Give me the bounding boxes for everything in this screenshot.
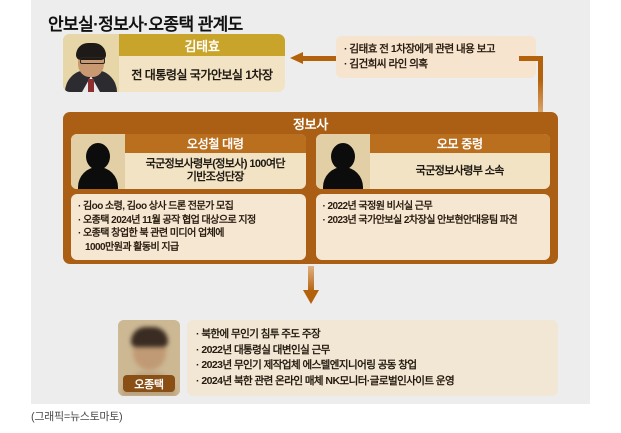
note-bullet: · 오종택 2024년 11월 공작 협업 대상으로 지정 — [78, 214, 299, 228]
oh-seongchul-silhouette-photo — [71, 134, 125, 189]
page-title: 안보실·정보사·오종택 관계도 — [48, 10, 243, 35]
note-bullet-continuation: 1000만원과 활동비 지급 — [78, 241, 299, 255]
callout-bullet: · 김태효 전 1차장에게 관련 내용 보고 — [344, 42, 528, 57]
person-card-oh-mo: 오모 중령 국군정보사령부 소속 — [316, 134, 551, 189]
note-bullet: · 김oo 소령, 김oo 상사 드론 전문가 모집 — [78, 200, 299, 214]
note-bullet: · 오종택 창업한 북 관련 미디어 업체에 — [78, 227, 299, 241]
arrow-left-icon — [290, 52, 336, 64]
infosa-column-right: 오모 중령 국군정보사령부 소속 · 2022년 국정원 비서실 근무 · 20… — [316, 134, 551, 260]
oh-mo-role: 국군정보사령부 소속 — [370, 153, 551, 189]
infosa-group-box: 정보사 오성철 대령 국군정보사령부(정보사) 100여단 기반조성단장 — [63, 112, 558, 264]
infosa-title: 정보사 — [71, 112, 550, 134]
note-bullet: · 2022년 대통령실 대변인실 근무 — [196, 343, 549, 359]
oh-seongchul-notes: · 김oo 소령, 김oo 상사 드론 전문가 모집 · 오종택 2024년 1… — [71, 194, 306, 260]
infographic-canvas: 안보실·정보사·오종택 관계도 김태효 전 대통령실 국가안보실 1차장 · 김… — [0, 0, 621, 433]
elbow-connector — [519, 56, 559, 118]
kim-taehyo-name: 김태효 — [119, 34, 285, 56]
oh-seongchul-role-line1: 국군정보사령부(정보사) 100여단 — [146, 158, 285, 170]
note-bullet: · 북한에 무인기 침투 주도 주장 — [196, 327, 549, 343]
oh-jongtaek-name-tag: 오종택 — [123, 375, 175, 392]
person-card-kim-taehyo: 김태효 전 대통령실 국가안보실 1차장 — [63, 34, 285, 92]
note-bullet: · 2023년 무인기 제작업체 에스텔엔지니어링 공동 창업 — [196, 358, 549, 374]
callout-box-kim: · 김태효 전 1차장에게 관련 내용 보고 · 김건희씨 라인 의혹 — [336, 36, 536, 78]
note-bullet: · 2023년 국가안보실 2차장실 안보현안대응팀 파견 — [323, 214, 544, 228]
oh-seongchul-role: 국군정보사령부(정보사) 100여단 기반조성단장 — [125, 153, 306, 189]
graphic-credit: (그래픽=뉴스토마토) — [31, 408, 122, 424]
oh-jongtaek-notes: · 북한에 무인기 침투 주도 주장 · 2022년 대통령실 대변인실 근무 … — [187, 320, 558, 396]
kim-taehyo-role: 전 대통령실 국가안보실 1차장 — [119, 56, 285, 92]
person-card-oh-seongchul: 오성철 대령 국군정보사령부(정보사) 100여단 기반조성단장 — [71, 134, 306, 189]
person-card-oh-jongtaek: 오종택 · 북한에 무인기 침투 주도 주장 · 2022년 대통령실 대변인실… — [118, 320, 558, 396]
oh-jongtaek-photo: 오종택 — [118, 320, 180, 396]
oh-seongchul-role-line2: 기반조성단장 — [187, 171, 244, 183]
infosa-column-left: 오성철 대령 국군정보사령부(정보사) 100여단 기반조성단장 · 김oo 소… — [71, 134, 306, 260]
oh-mo-silhouette-photo — [316, 134, 370, 189]
oh-seongchul-name: 오성철 대령 — [125, 134, 306, 153]
note-bullet: · 2024년 북한 관련 온라인 매체 NK모니터·글로벌인사이트 운영 — [196, 374, 549, 390]
oh-mo-notes: · 2022년 국정원 비서실 근무 · 2023년 국가안보실 2차장실 안보… — [316, 194, 551, 260]
callout-bullet: · 김건희씨 라인 의혹 — [344, 57, 528, 72]
arrow-down-icon — [303, 266, 319, 306]
oh-mo-name: 오모 중령 — [370, 134, 551, 153]
note-bullet: · 2022년 국정원 비서실 근무 — [323, 200, 544, 214]
kim-taehyo-photo — [63, 34, 119, 92]
